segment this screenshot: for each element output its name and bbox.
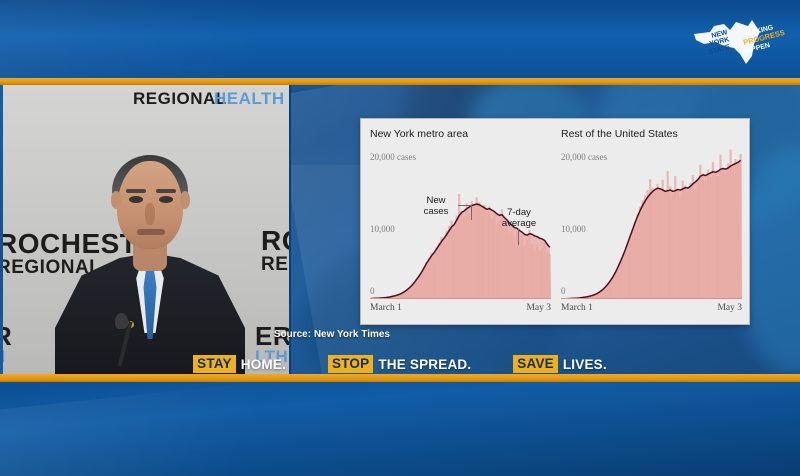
chart-title-left: New York metro area	[370, 128, 468, 140]
backdrop-brand-roc: ROC	[261, 225, 291, 257]
xtick-start-right: March 1	[561, 303, 593, 313]
nyt-chart-card: New York metro area 20,000 cases 10,000 …	[360, 118, 750, 325]
annotation-7day-average: 7-day average	[496, 207, 542, 229]
annotation-leader-2	[471, 205, 472, 220]
chart-title-right: Rest of the United States	[561, 128, 678, 140]
slogan-text-lives: LIVES.	[563, 357, 607, 372]
slogan-highlight-stop: STOP	[328, 355, 373, 373]
gold-divider-top	[0, 78, 800, 85]
backdrop-brand-health: HEALTH	[214, 89, 285, 109]
gold-divider-bottom	[0, 374, 800, 382]
slogan-text-home: HOME.	[241, 357, 286, 372]
chart-panel-ny-metro: New York metro area 20,000 cases 10,000 …	[370, 119, 551, 326]
slogan-text-the-spread: THE SPREAD.	[378, 357, 471, 372]
slogan-save-lives: SAVE LIVES.	[513, 355, 607, 373]
slogan-stop-the-spread: STOP THE SPREAD.	[328, 355, 471, 373]
backdrop-brand-re: RE	[261, 254, 288, 276]
top-header-bar: NEW YORK STATE MAKING PROGRESS HAPPEN	[0, 0, 800, 78]
chart-source-attribution: Source: New York Times	[0, 329, 390, 340]
slogan-highlight-stay: STAY	[193, 355, 236, 373]
new-york-state-logo: NEW YORK STATE MAKING PROGRESS HAPPEN	[690, 18, 794, 66]
annotation-leader-1	[458, 205, 472, 206]
xtick-start-left: March 1	[370, 303, 402, 313]
chart-plot-right	[561, 147, 742, 299]
annotation-new-cases: New cases	[414, 195, 458, 217]
slogan-stay-home: STAY HOME.	[193, 355, 286, 373]
broadcast-screen: NEW YORK STATE MAKING PROGRESS HAPPEN RE…	[0, 0, 800, 476]
backdrop-brand-regional: REGIONAL	[133, 89, 227, 109]
public-health-slogan-banner: STAY HOME. STOP THE SPREAD. SAVE LIVES.	[0, 354, 800, 374]
chart-panel-rest-of-us: Rest of the United States 20,000 cases 1…	[561, 119, 742, 326]
xtick-end-right: May 3	[717, 303, 742, 313]
slogan-highlight-save: SAVE	[513, 355, 558, 373]
annotation-leader-3	[518, 229, 519, 245]
xtick-end-left: May 3	[526, 303, 551, 313]
bottom-blue-fill	[0, 382, 800, 476]
main-stage: REGIONAL HEALTH ROCHEST REGIONAL HEA ROC…	[0, 85, 800, 374]
